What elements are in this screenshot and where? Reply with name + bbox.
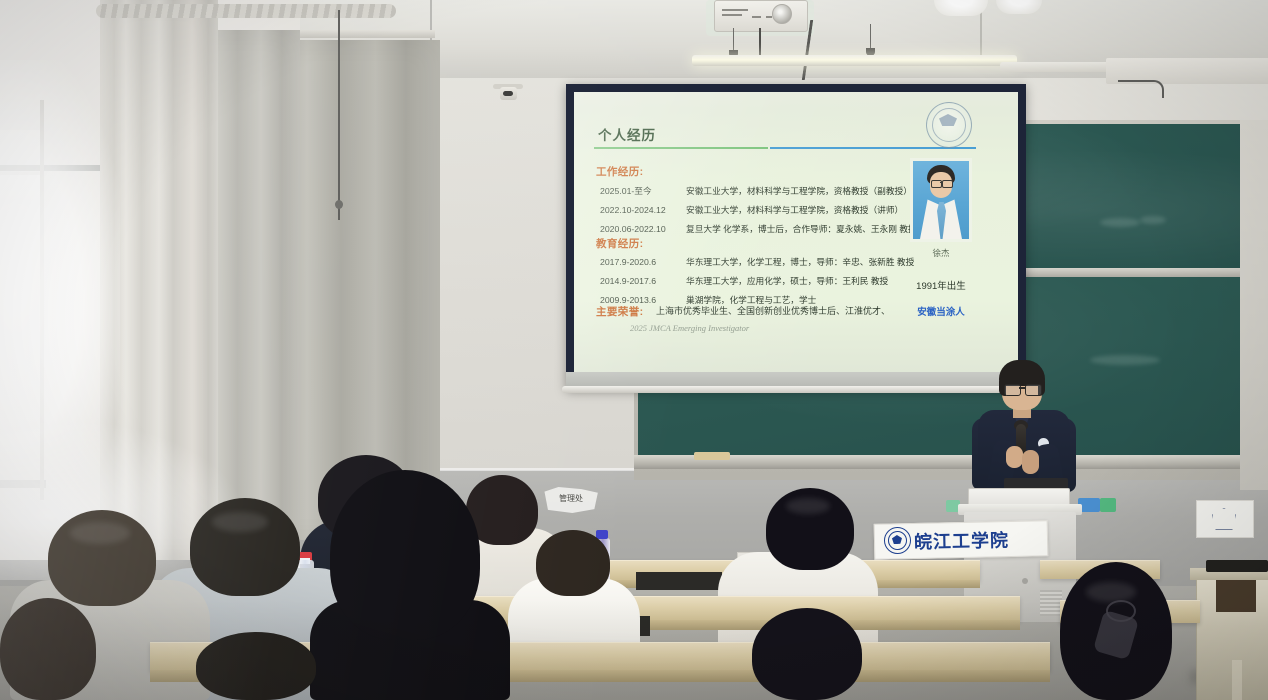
hair-clip-loop	[1106, 600, 1136, 622]
slide-rule-green	[594, 147, 768, 149]
hair-highlight	[70, 522, 130, 544]
work-row-desc: 复旦大学 化学系，博士后，合作导师：夏永姚、王永刚 教授	[686, 224, 917, 234]
education-row-desc: 华东理工大学，化学工程，博士，导师：辛忠、张新胜 教授	[686, 257, 914, 267]
podium-knob[interactable]	[1022, 578, 1028, 584]
chalk-smudge	[1090, 355, 1160, 365]
education-row-date: 2014.9-2017.6	[600, 276, 686, 286]
hair-highlight	[1086, 582, 1136, 602]
blind-pull-cord[interactable]	[338, 10, 340, 220]
screen-roller-bar	[562, 386, 1030, 393]
projector-vent	[722, 14, 742, 16]
work-row-date: 2025.01-至今	[600, 184, 686, 197]
education-row: 2014.9-2017.6华东理工大学，应用化学，硕士，导师：王利民 教授	[600, 274, 888, 287]
portrait-glasses-icon	[942, 180, 953, 188]
presentation-slide: 个人经历 工作经历: 2025.01-至今安徽工业大学，材料科学与工程学院，资格…	[574, 92, 1018, 382]
speaker-hand-right	[1022, 450, 1039, 474]
hair-highlight	[786, 498, 830, 514]
portrait-name: 徐杰	[910, 247, 972, 259]
projector-mount-rod	[759, 28, 761, 58]
security-camera-lens	[503, 91, 513, 96]
student-head	[752, 608, 862, 700]
chalk-piece	[694, 452, 730, 460]
education-row-desc: 华东理工大学，应用化学，硕士，导师：王利民 教授	[686, 276, 888, 286]
work-row-date: 2022.10-2024.12	[600, 205, 686, 215]
fluorescent-tube-light	[692, 55, 1017, 66]
work-row: 2025.01-至今安徽工业大学，材料科学与工程学院，资格教授（副教授）	[600, 184, 912, 197]
speaker-hand-left	[1006, 446, 1023, 468]
student-head	[196, 632, 316, 700]
podium-item	[1100, 498, 1116, 512]
blind-cord-knob[interactable]	[335, 200, 343, 209]
projector-vent	[766, 16, 772, 18]
projector-vent	[752, 16, 761, 18]
work-experience-heading: 工作经历:	[596, 164, 644, 179]
duct-cable	[1118, 80, 1164, 98]
desk-gap	[636, 572, 722, 590]
cabinet-tray	[1206, 560, 1268, 572]
student-head	[536, 530, 610, 596]
curtain-rod	[96, 4, 396, 18]
podium-university-name: 皖江工学院	[914, 526, 1041, 555]
work-row-date: 2020.06-2022.10	[600, 224, 686, 234]
honors-english-award: 2025 JMCA Emerging Investigator	[630, 323, 749, 333]
hair-highlight	[212, 512, 268, 532]
speaker-glasses-icon	[1004, 384, 1021, 396]
ceiling-lamp	[996, 0, 1042, 14]
student-head	[0, 598, 96, 700]
wall-notice-sign-text: 管理处	[548, 493, 594, 504]
portrait-glasses-bridge-icon	[940, 182, 943, 183]
work-row: 2020.06-2022.10复旦大学 化学系，博士后，合作导师：夏永姚、王永刚…	[600, 222, 917, 235]
lecture-hall-photo: 个人经历 工作经历: 2025.01-至今安徽工业大学，材料科学与工程学院，资格…	[0, 0, 1268, 700]
slide-title: 个人经历	[598, 124, 656, 144]
education-heading: 教育经历:	[596, 236, 644, 251]
education-row-date: 2017.9-2020.6	[600, 257, 686, 267]
portrait-birth-year: 1991年出生	[904, 278, 978, 292]
ceiling-lamp	[934, 0, 988, 16]
projector-vent	[722, 9, 748, 11]
work-row-desc: 安徽工业大学，材料科学与工程学院，资格教授（副教授）	[686, 186, 912, 196]
right-wall-strip	[1240, 120, 1268, 490]
chalk-smudge	[1140, 216, 1166, 224]
curtain-rail-secondary	[300, 30, 435, 38]
projector-lens	[772, 4, 792, 24]
projector	[714, 0, 808, 32]
student-head	[330, 470, 480, 640]
education-row: 2017.9-2020.6华东理工大学，化学工程，博士，导师：辛忠、张新胜 教授	[600, 255, 914, 268]
speaker-glasses-bridge-icon	[1019, 387, 1025, 389]
honors-heading: 主要荣誉:	[596, 304, 644, 319]
honors-list: 上海市优秀毕业生、全国创新创业优秀博士后、江淮优才、	[656, 304, 890, 317]
chalk-smudge	[1100, 218, 1140, 227]
fluorescent-tube-light-secondary	[1000, 62, 1120, 72]
cabinet-leg	[1232, 660, 1242, 700]
work-row: 2022.10-2024.12安徽工业大学，材料科学与工程学院，资格教授（讲师）	[600, 203, 903, 216]
work-row-desc: 安徽工业大学，材料科学与工程学院，资格教授（讲师）	[686, 205, 903, 215]
portrait-hometown: 安徽当涂人	[904, 304, 978, 318]
speaker-glasses-icon	[1025, 384, 1042, 396]
cabinet-opening	[1216, 580, 1256, 612]
podium-vent	[1040, 590, 1062, 616]
